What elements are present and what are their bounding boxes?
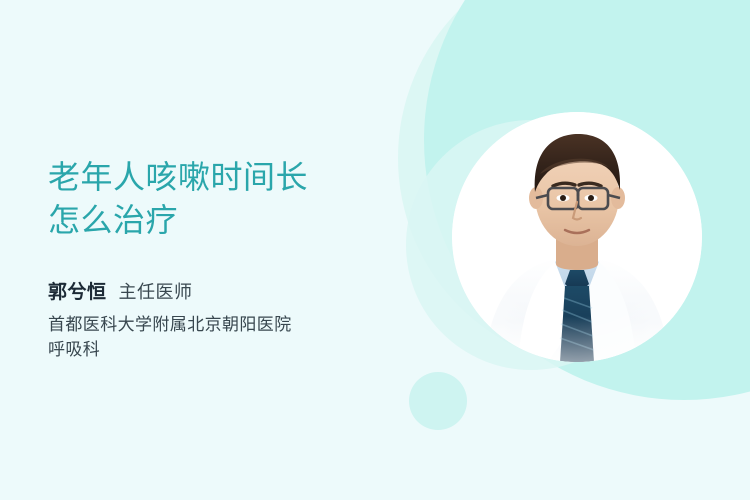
doctor-affiliation: 首都医科大学附属北京朝阳医院	[48, 312, 398, 337]
doctor-title: 主任医师	[119, 279, 193, 305]
doctor-portrait	[452, 112, 702, 362]
doctor-info-card: 老年人咳嗽时间长 怎么治疗 郭兮恒 主任医师 首都医科大学附属北京朝阳医院 呼吸…	[0, 0, 750, 500]
doctor-name: 郭兮恒	[48, 280, 107, 306]
page-title: 老年人咳嗽时间长 怎么治疗	[48, 156, 398, 242]
mint-bubble-small-icon	[409, 372, 467, 430]
doctor-portrait-illustration	[452, 112, 702, 362]
text-block: 老年人咳嗽时间长 怎么治疗 郭兮恒 主任医师 首都医科大学附属北京朝阳医院 呼吸…	[48, 156, 398, 362]
doctor-identity-line: 郭兮恒 主任医师	[48, 279, 398, 306]
doctor-department: 呼吸科	[48, 337, 398, 362]
